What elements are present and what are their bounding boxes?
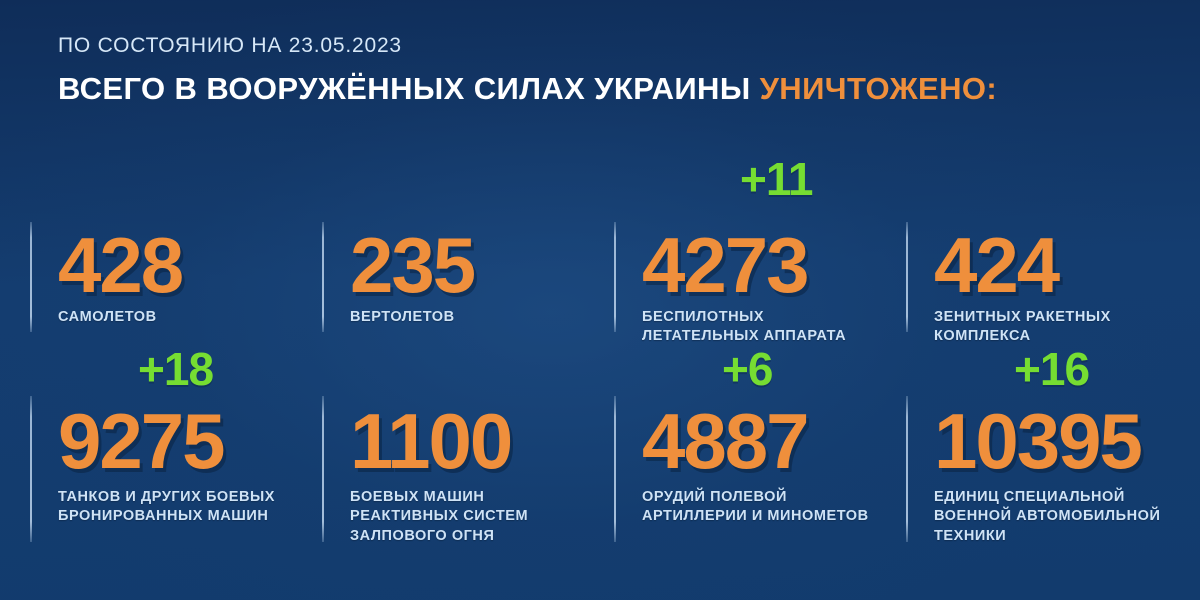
divider xyxy=(906,222,908,332)
page-title: ВСЕГО В ВООРУЖЁННЫХ СИЛАХ УКРАИНЫ УНИЧТО… xyxy=(58,71,997,107)
stat-value: 1100 xyxy=(350,402,511,480)
stats-grid: 428 САМОЛЕТОВ 235 ВЕРТОЛЕТОВ +11 4273 БЕ… xyxy=(30,148,1180,550)
stat-delta: +18 xyxy=(138,346,213,392)
stat-cell-mlrs: 1100 БОЕВЫХ МАШИН РЕАКТИВНЫХ СИСТЕМ ЗАЛП… xyxy=(322,340,614,550)
divider xyxy=(30,396,32,542)
stat-value: 9275 xyxy=(58,402,224,480)
stat-value: 4887 xyxy=(642,402,808,480)
stat-label: ОРУДИЙ ПОЛЕВОЙ АРТИЛЛЕРИИ И МИНОМЕТОВ xyxy=(642,488,869,527)
infographic-root: ПО СОСТОЯНИЮ НА 23.05.2023 ВСЕГО В ВООРУ… xyxy=(0,0,1200,600)
divider xyxy=(906,396,908,542)
page-title-accent: УНИЧТОЖЕНО: xyxy=(760,71,998,106)
stat-label: БОЕВЫХ МАШИН РЕАКТИВНЫХ СИСТЕМ ЗАЛПОВОГО… xyxy=(350,488,528,546)
stat-cell-tanks: +18 9275 ТАНКОВ И ДРУГИХ БОЕВЫХ БРОНИРОВ… xyxy=(30,340,322,550)
stat-value: 428 xyxy=(58,226,182,304)
stat-cell-aircraft: 428 САМОЛЕТОВ xyxy=(30,148,322,340)
divider xyxy=(30,222,32,332)
as-of-date-line: ПО СОСТОЯНИЮ НА 23.05.2023 xyxy=(58,34,997,58)
stat-delta: +11 xyxy=(740,156,813,202)
divider xyxy=(322,396,324,542)
divider xyxy=(614,222,616,332)
divider xyxy=(614,396,616,542)
stat-delta: +6 xyxy=(722,346,772,392)
stat-value: 424 xyxy=(934,226,1058,304)
divider xyxy=(322,222,324,332)
stat-delta: +16 xyxy=(1014,346,1089,392)
stat-value: 235 xyxy=(350,226,474,304)
stat-value: 4273 xyxy=(642,226,808,304)
stat-cell-artillery: +6 4887 ОРУДИЙ ПОЛЕВОЙ АРТИЛЛЕРИИ И МИНО… xyxy=(614,340,906,550)
stat-label: ТАНКОВ И ДРУГИХ БОЕВЫХ БРОНИРОВАННЫХ МАШ… xyxy=(58,488,275,527)
stat-cell-military-vehicles: +16 10395 ЕДИНИЦ СПЕЦИАЛЬНОЙ ВОЕННОЙ АВТ… xyxy=(906,340,1180,550)
stat-cell-uav: +11 4273 БЕСПИЛОТНЫХ ЛЕТАТЕЛЬНЫХ АППАРАТ… xyxy=(614,148,906,340)
stat-value: 10395 xyxy=(934,402,1141,480)
page-title-main: ВСЕГО В ВООРУЖЁННЫХ СИЛАХ УКРАИНЫ xyxy=(58,71,751,106)
stat-label: ЕДИНИЦ СПЕЦИАЛЬНОЙ ВОЕННОЙ АВТОМОБИЛЬНОЙ… xyxy=(934,488,1160,546)
stat-label: САМОЛЕТОВ xyxy=(58,308,157,327)
header: ПО СОСТОЯНИЮ НА 23.05.2023 ВСЕГО В ВООРУ… xyxy=(58,34,997,107)
stat-label: ВЕРТОЛЕТОВ xyxy=(350,308,455,327)
stat-cell-air-defense: 424 ЗЕНИТНЫХ РАКЕТНЫХ КОМПЛЕКСА xyxy=(906,148,1180,340)
stat-cell-helicopters: 235 ВЕРТОЛЕТОВ xyxy=(322,148,614,340)
